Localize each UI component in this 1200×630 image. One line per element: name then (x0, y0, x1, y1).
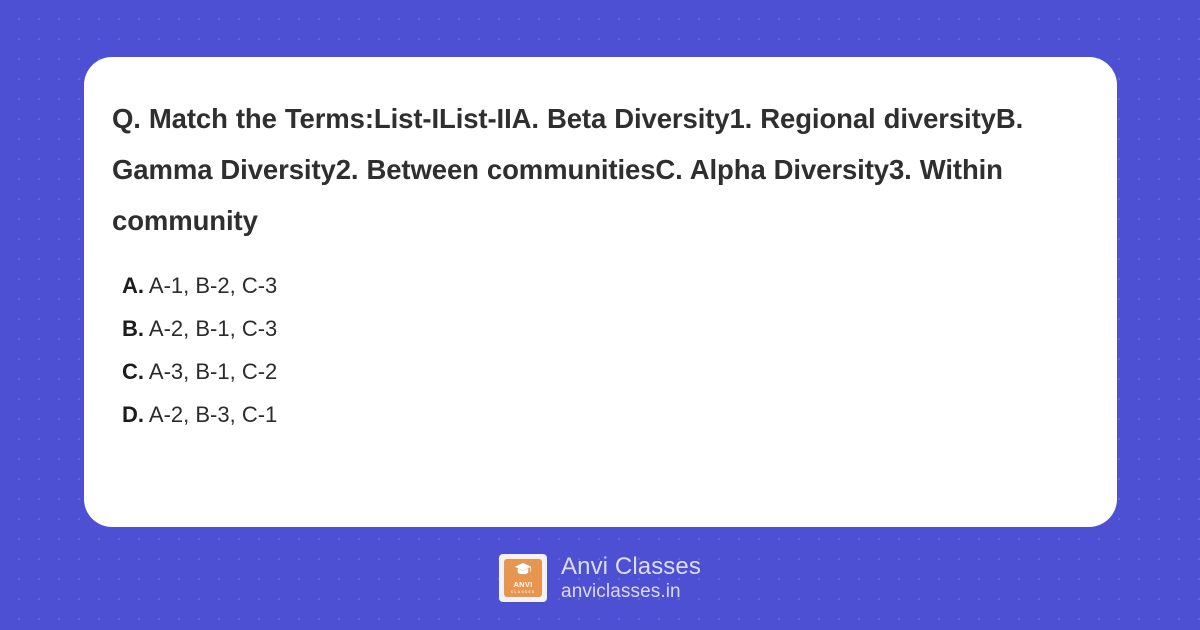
option-row-b[interactable]: B. A-2, B-1, C-3 (122, 307, 1089, 350)
brand-logo-inner: ANVI CLASSES (504, 559, 542, 597)
footer-brand: ANVI CLASSES Anvi Classes anviclasses.in (0, 543, 1200, 613)
option-value: A-1, B-2, C-3 (149, 273, 277, 298)
logo-subtitle: CLASSES (511, 590, 536, 595)
question-card: Q. Match the Terms:List-IList-IIA. Beta … (84, 57, 1117, 527)
option-letter: C. (122, 359, 144, 384)
option-letter: D. (122, 402, 144, 427)
option-letter: A. (122, 273, 144, 298)
options-list: A. A-1, B-2, C-3 B. A-2, B-1, C-3 C. A-3… (112, 264, 1089, 436)
option-value: A-2, B-1, C-3 (149, 316, 277, 341)
question-text: Q. Match the Terms:List-IList-IIA. Beta … (112, 93, 1089, 246)
option-row-d[interactable]: D. A-2, B-3, C-1 (122, 393, 1089, 436)
logo-name: ANVI (513, 581, 532, 589)
option-value: A-2, B-3, C-1 (149, 402, 277, 427)
brand-title: Anvi Classes (561, 554, 701, 579)
brand-text: Anvi Classes anviclasses.in (561, 554, 701, 601)
brand-url[interactable]: anviclasses.in (561, 582, 701, 602)
option-row-a[interactable]: A. A-1, B-2, C-3 (122, 264, 1089, 307)
option-value: A-3, B-1, C-2 (149, 359, 277, 384)
brand-logo: ANVI CLASSES (499, 554, 547, 602)
graduation-cap-icon (514, 562, 532, 580)
option-row-c[interactable]: C. A-3, B-1, C-2 (122, 350, 1089, 393)
option-letter: B. (122, 316, 144, 341)
